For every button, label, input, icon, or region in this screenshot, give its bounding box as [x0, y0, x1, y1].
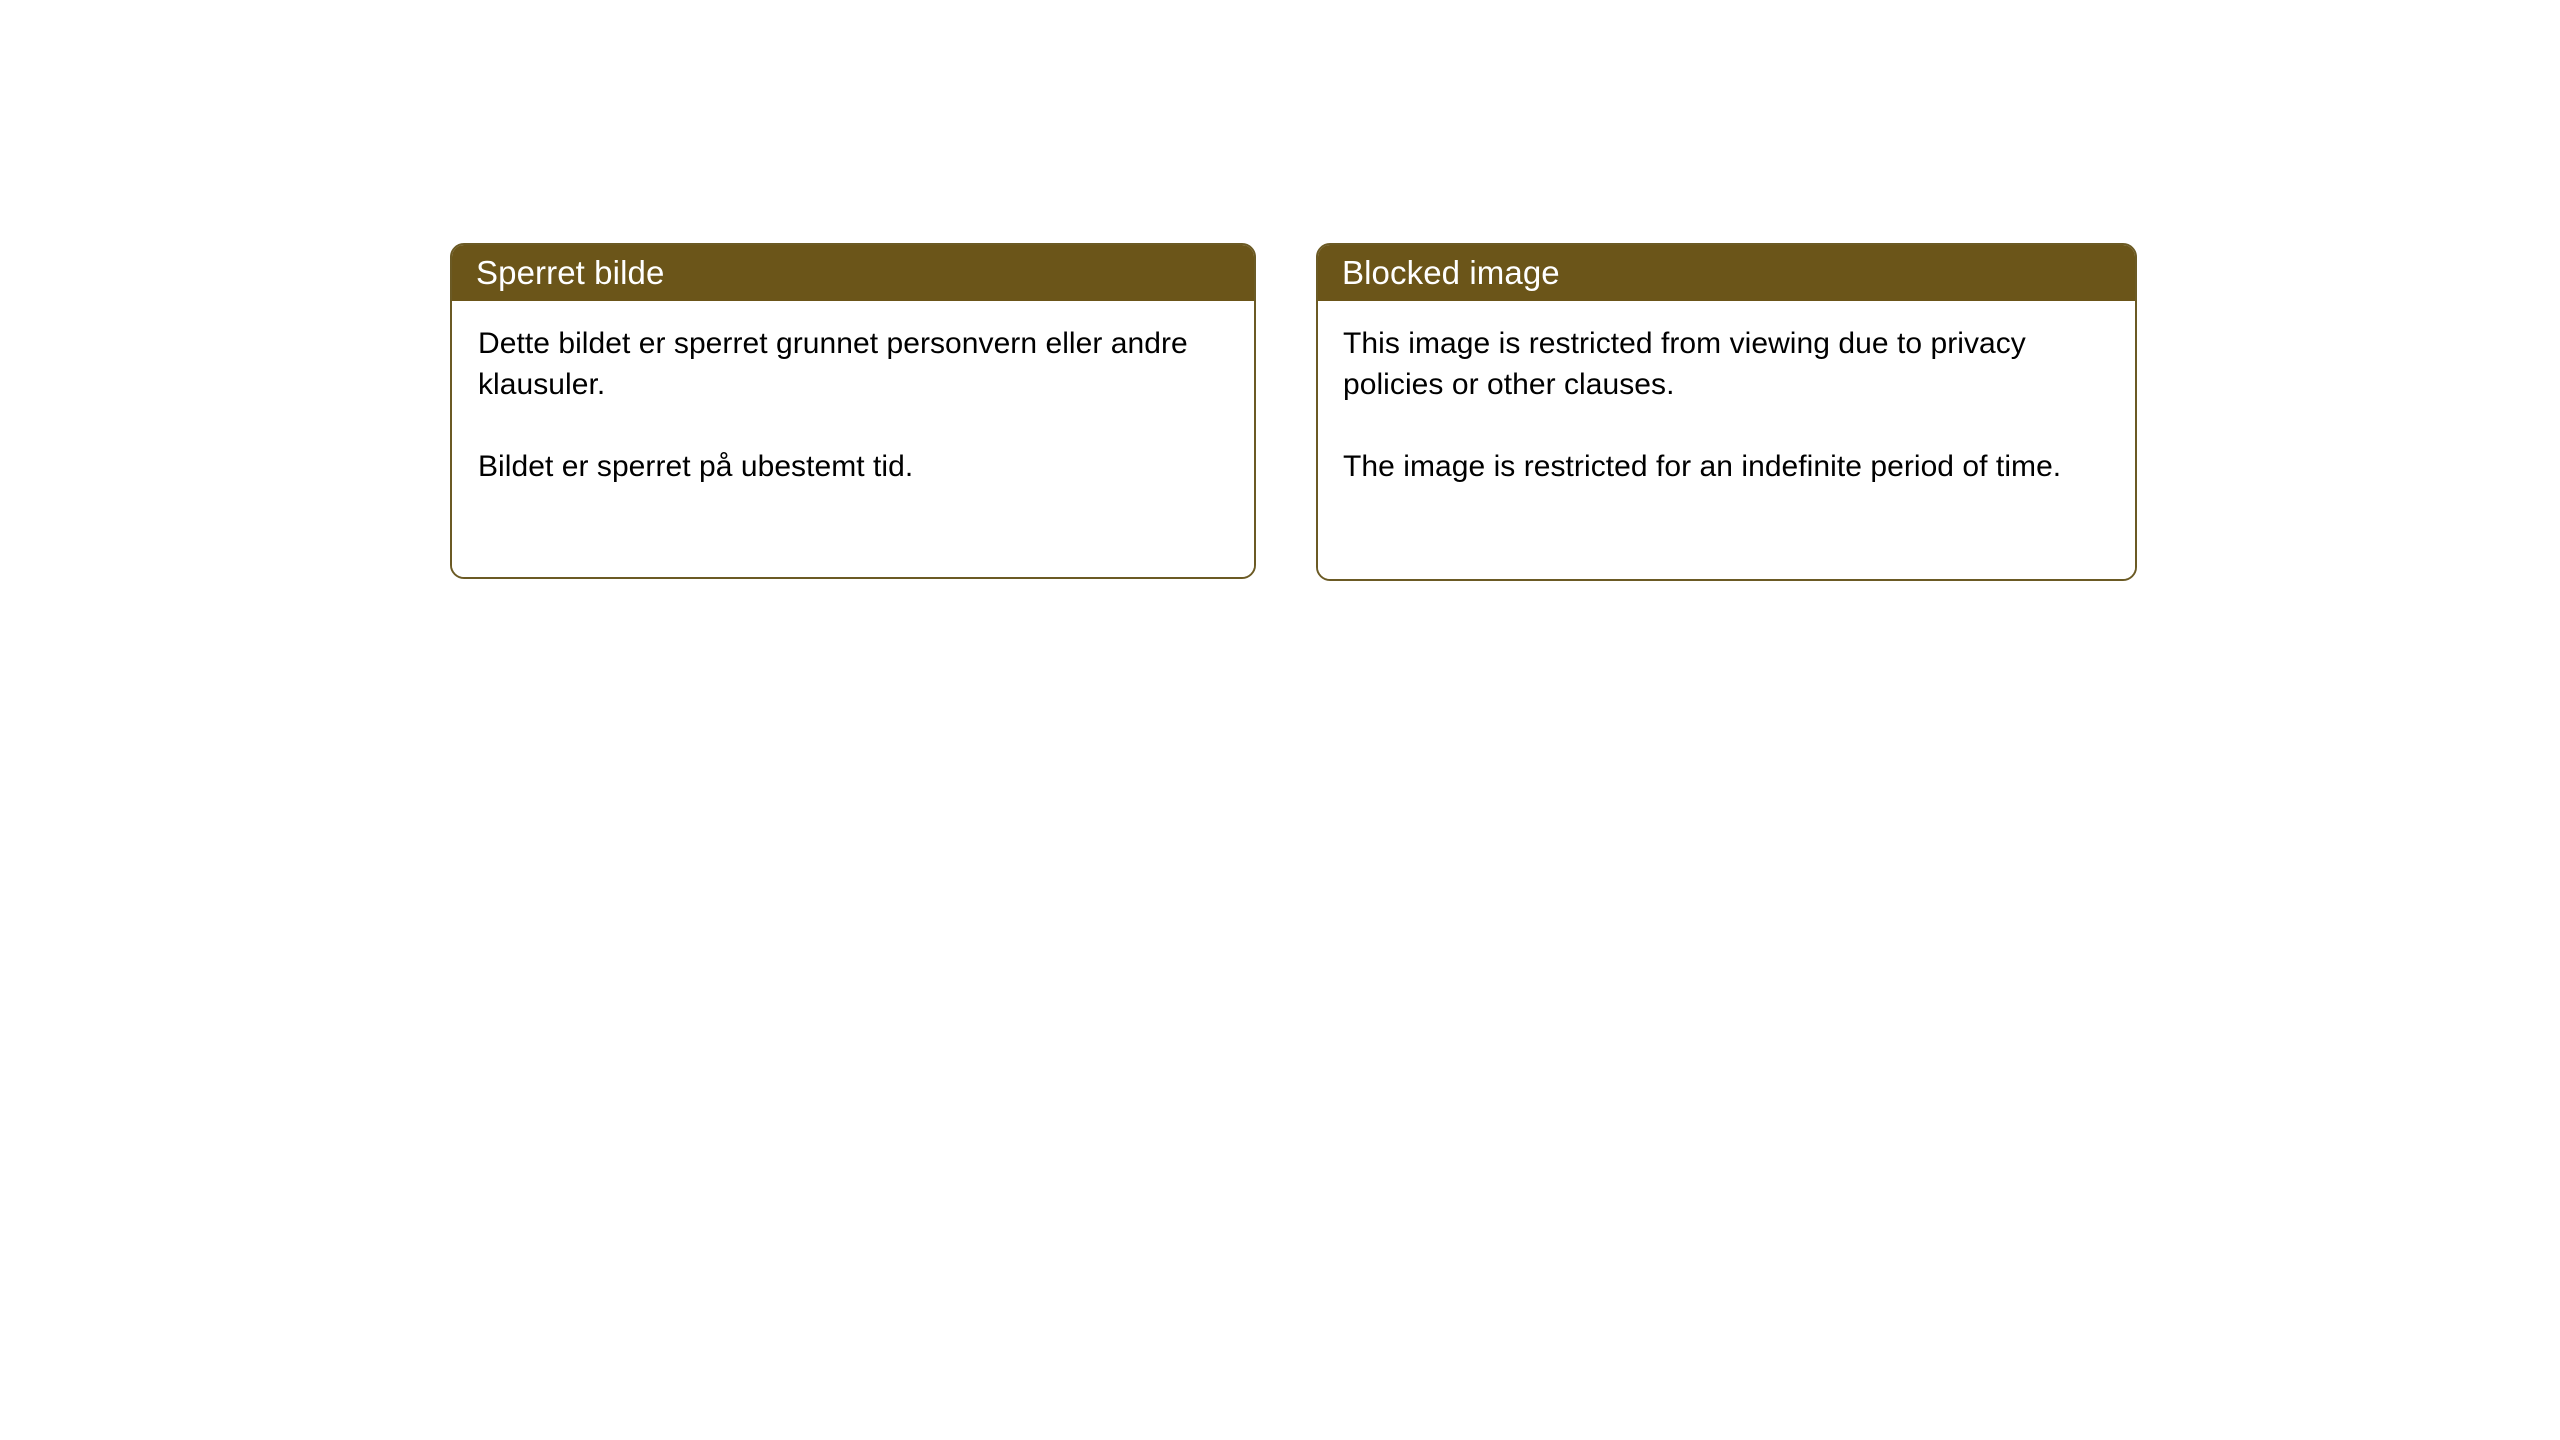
- notice-cards-row: Sperret bilde Dette bildet er sperret gr…: [450, 243, 2137, 581]
- card-title-norwegian: Sperret bilde: [476, 254, 664, 292]
- card-paragraph-duration-english: The image is restricted for an indefinit…: [1343, 446, 2109, 487]
- card-paragraph-reason-norwegian: Dette bildet er sperret grunnet personve…: [478, 323, 1228, 405]
- card-header-norwegian: Sperret bilde: [452, 245, 1254, 301]
- card-header-english: Blocked image: [1318, 245, 2135, 301]
- card-title-english: Blocked image: [1342, 254, 1560, 292]
- page-canvas: Sperret bilde Dette bildet er sperret gr…: [0, 0, 2560, 1440]
- card-body-english: This image is restricted from viewing du…: [1318, 301, 2135, 579]
- card-paragraph-duration-norwegian: Bildet er sperret på ubestemt tid.: [478, 446, 1228, 487]
- card-paragraph-reason-english: This image is restricted from viewing du…: [1343, 323, 2109, 405]
- blocked-image-card-norwegian: Sperret bilde Dette bildet er sperret gr…: [450, 243, 1256, 579]
- blocked-image-card-english: Blocked image This image is restricted f…: [1316, 243, 2137, 581]
- card-body-norwegian: Dette bildet er sperret grunnet personve…: [452, 301, 1254, 577]
